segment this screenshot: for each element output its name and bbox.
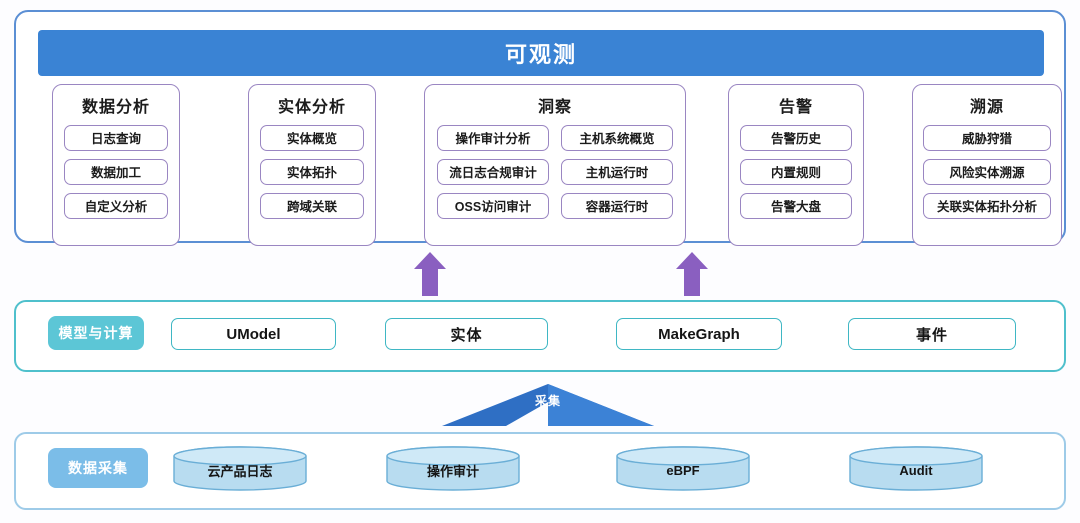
group-column-left: 操作审计分析 流日志合规审计 OSS访问审计: [437, 125, 549, 219]
row-label-model-compute: 模型与计算: [48, 316, 144, 350]
row-label-data-collection: 数据采集: [48, 448, 148, 488]
diagram-canvas: 可观测 数据分析 日志查询 数据加工 自定义分析 实体分析 实体概览 实体拓扑 …: [0, 0, 1080, 523]
data-source-cylinder[interactable]: eBPF: [616, 446, 750, 491]
group-card-data-analysis: 数据分析 日志查询 数据加工 自定义分析: [52, 84, 180, 246]
group-item[interactable]: 日志查询: [64, 125, 168, 151]
data-source-label: eBPF: [616, 446, 750, 491]
data-source-cylinder[interactable]: 操作审计: [386, 446, 520, 491]
model-box-label: MakeGraph: [658, 326, 740, 343]
group-title: 洞察: [425, 93, 685, 117]
model-box-label: 实体: [450, 324, 482, 345]
group-item[interactable]: 告警大盘: [740, 193, 852, 219]
group-item[interactable]: OSS访问审计: [437, 193, 549, 219]
group-item[interactable]: 容器运行时: [561, 193, 673, 219]
group-item[interactable]: 实体概览: [260, 125, 364, 151]
group-item[interactable]: 告警历史: [740, 125, 852, 151]
group-title: 数据分析: [53, 93, 179, 117]
group-item[interactable]: 操作审计分析: [437, 125, 549, 151]
model-box-label: 事件: [916, 324, 948, 345]
group-card-alerting: 告警 告警历史 内置规则 告警大盘: [728, 84, 864, 246]
model-box-label: UModel: [226, 326, 280, 343]
data-source-label: Audit: [849, 446, 983, 491]
group-item[interactable]: 主机运行时: [561, 159, 673, 185]
data-source-cylinder[interactable]: Audit: [849, 446, 983, 491]
row-label-text: 数据采集: [68, 458, 128, 478]
group-title: 实体分析: [249, 93, 375, 117]
group-card-traceback: 溯源 威胁狩猎 风险实体溯源 关联实体拓扑分析: [912, 84, 1062, 246]
group-item[interactable]: 主机系统概览: [561, 125, 673, 151]
group-items: 实体概览 实体拓扑 跨域关联: [249, 125, 375, 229]
group-item[interactable]: 关联实体拓扑分析: [923, 193, 1051, 219]
data-source-label: 云产品日志: [173, 446, 307, 491]
model-box-makegraph[interactable]: MakeGraph: [616, 318, 782, 350]
model-box-entity[interactable]: 实体: [385, 318, 548, 350]
group-card-insight: 洞察 操作审计分析 流日志合规审计 OSS访问审计 主机系统概览 主机运行时 容…: [424, 84, 686, 246]
data-source-cylinder[interactable]: 云产品日志: [173, 446, 307, 491]
model-box-umodel[interactable]: UModel: [171, 318, 336, 350]
group-items: 操作审计分析 流日志合规审计 OSS访问审计 主机系统概览 主机运行时 容器运行…: [425, 125, 685, 229]
group-item[interactable]: 威胁狩猎: [923, 125, 1051, 151]
group-item[interactable]: 风险实体溯源: [923, 159, 1051, 185]
group-items: 告警历史 内置规则 告警大盘: [729, 125, 863, 229]
group-item[interactable]: 内置规则: [740, 159, 852, 185]
group-items: 日志查询 数据加工 自定义分析: [53, 125, 179, 229]
data-source-label: 操作审计: [386, 446, 520, 491]
row-label-text: 模型与计算: [59, 323, 134, 343]
group-item[interactable]: 自定义分析: [64, 193, 168, 219]
group-title: 溯源: [913, 93, 1061, 117]
up-arrow-icon: [413, 251, 447, 297]
collect-arrow-label: 采集: [440, 392, 656, 409]
up-arrow-icon: [675, 251, 709, 297]
group-column-right: 主机系统概览 主机运行时 容器运行时: [561, 125, 673, 219]
observability-banner: 可观测: [38, 30, 1044, 76]
observability-section: 可观测 数据分析 日志查询 数据加工 自定义分析 实体分析 实体概览 实体拓扑 …: [14, 10, 1066, 243]
group-item[interactable]: 流日志合规审计: [437, 159, 549, 185]
group-item[interactable]: 数据加工: [64, 159, 168, 185]
group-title: 告警: [729, 93, 863, 117]
model-box-event[interactable]: 事件: [848, 318, 1016, 350]
group-card-entity-analysis: 实体分析 实体概览 实体拓扑 跨域关联: [248, 84, 376, 246]
group-item[interactable]: 跨域关联: [260, 193, 364, 219]
group-items: 威胁狩猎 风险实体溯源 关联实体拓扑分析: [913, 125, 1061, 229]
banner-title: 可观测: [505, 37, 577, 69]
group-item[interactable]: 实体拓扑: [260, 159, 364, 185]
